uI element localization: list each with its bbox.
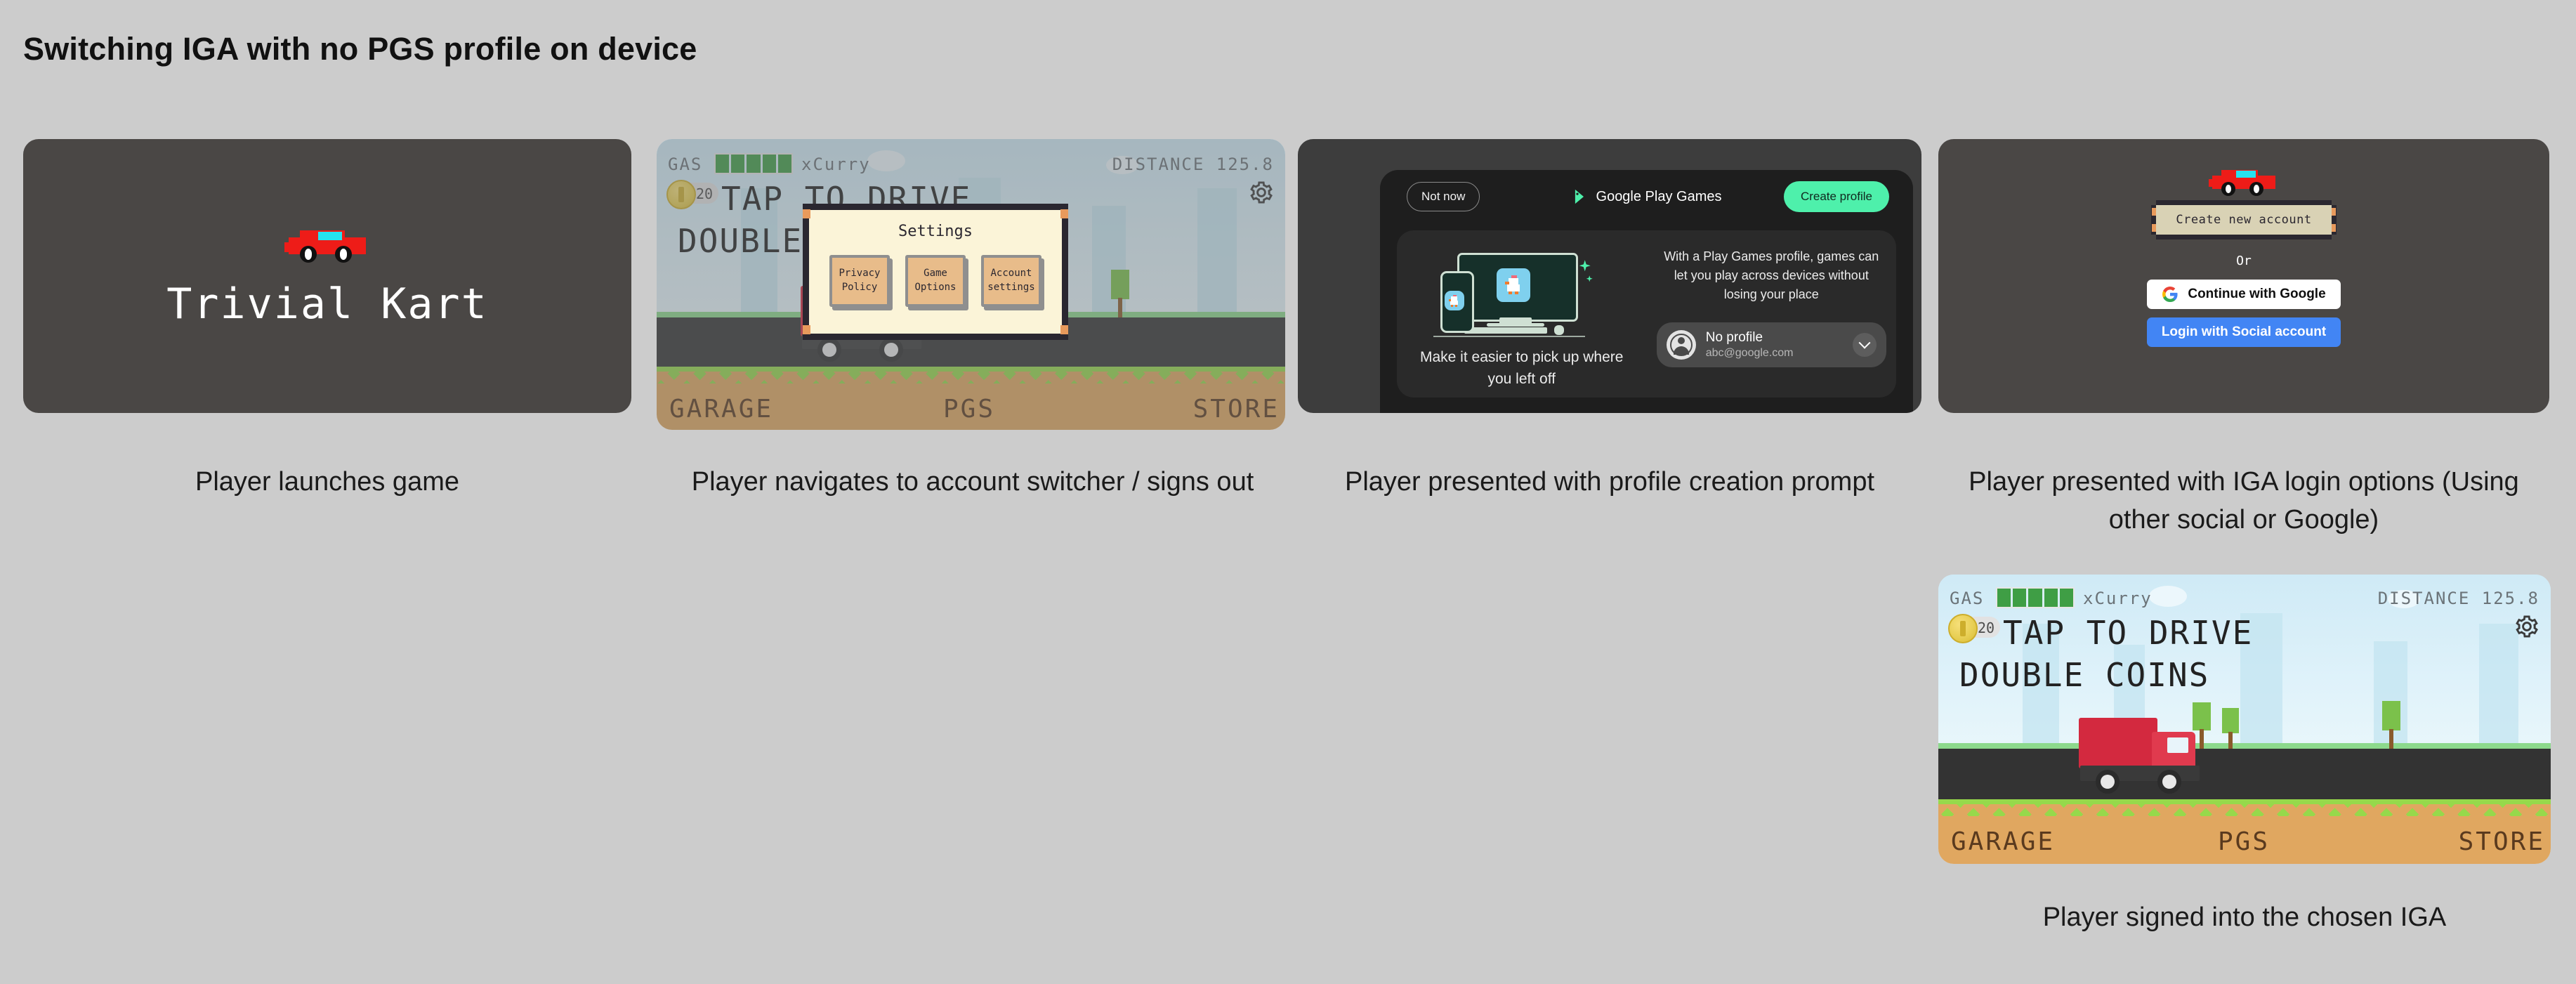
caption-panel-4: Player presented with IGA login options … (1938, 464, 2549, 539)
create-profile-button[interactable]: Create profile (1784, 181, 1889, 212)
sparkle-icon (1586, 275, 1593, 282)
panel-pgs-profile-prompt: Not now Google Play Games Create profile (1298, 139, 1921, 413)
caption-panel-3: Player presented with profile creation p… (1298, 464, 1921, 501)
game-options-line1: Game (924, 267, 947, 281)
google-g-icon (2162, 286, 2179, 303)
privacy-policy-button[interactable]: Privacy Policy (829, 255, 890, 307)
game-options-line2: Options (914, 281, 956, 295)
or-divider-label: Or (2236, 254, 2252, 268)
settings-dialog-title: Settings (809, 223, 1062, 240)
gas-bar (1996, 587, 2075, 608)
pixel-car-icon (284, 223, 370, 264)
caption-panel-1: Player launches game (23, 464, 631, 501)
panel-settings-dialog: GAS xCurry DISTANCE 125.8 20 TAP TO DRIV… (657, 139, 1285, 430)
nav-store[interactable]: STORE (2459, 827, 2545, 856)
hud-car-name: xCurry (2083, 589, 2153, 608)
tree-decoration (2221, 708, 2240, 749)
login-with-social-button[interactable]: Login with Social account (2147, 317, 2341, 347)
panel-iga-login: Create new account Or Continue with Goog… (1938, 139, 2549, 413)
gear-icon[interactable] (2514, 614, 2539, 639)
chevron-down-icon[interactable] (1853, 333, 1877, 357)
caption-panel-5: Player signed into the chosen IGA (1938, 899, 2551, 937)
create-new-account-label: Create new account (2176, 213, 2311, 227)
profile-email: abc@google.com (1706, 347, 1853, 360)
game-title: Trivial Kart (166, 280, 487, 329)
nav-pgs[interactable]: PGS (2218, 827, 2270, 856)
continue-with-google-label: Continue with Google (2188, 287, 2325, 302)
coin-counter: 20 (1952, 617, 2000, 638)
tree-decoration (2381, 701, 2402, 749)
play-games-brand-label: Google Play Games (1596, 189, 1722, 205)
privacy-policy-line2: Policy (842, 281, 878, 295)
caption-panel-2: Player navigates to account switcher / s… (671, 464, 1275, 501)
panel-signed-in-game: GAS xCurry DISTANCE 125.8 20 TAP TO DRIV… (1938, 575, 2551, 864)
headline-tap-to-drive: TAP TO DRIVE (2003, 614, 2253, 652)
nav-garage[interactable]: GARAGE (1951, 827, 2055, 856)
privacy-policy-line1: Privacy (839, 267, 880, 281)
profile-name: No profile (1706, 330, 1853, 346)
play-games-logo-icon (1572, 188, 1590, 206)
account-settings-line2: settings (987, 281, 1034, 295)
continue-with-google-button[interactable]: Continue with Google (2147, 280, 2341, 309)
pixel-car-icon (2209, 164, 2279, 197)
account-settings-line1: Account (990, 267, 1032, 281)
game-options-button[interactable]: Game Options (905, 255, 966, 307)
create-new-account-button[interactable]: Create new account (2156, 205, 2332, 235)
panel-splash-screen: Trivial Kart (23, 139, 631, 413)
illustration-caption: Make it easier to pick up where you left… (1407, 347, 1636, 390)
game-icon-small (1445, 291, 1464, 310)
game-icon-large (1497, 268, 1530, 302)
not-now-button[interactable]: Not now (1407, 182, 1480, 211)
player-truck (2079, 715, 2208, 799)
profile-description: With a Play Games profile, games can let… (1657, 247, 1886, 304)
sparkle-icon (1579, 260, 1591, 271)
profile-selector[interactable]: No profile abc@google.com (1657, 322, 1886, 367)
page-title: Switching IGA with no PGS profile on dev… (23, 31, 697, 67)
hud-distance: DISTANCE 125.8 (2378, 589, 2539, 608)
settings-dialog: Settings Privacy Policy Game Options Acc… (803, 204, 1068, 340)
headline-double-coins: DOUBLE COINS (1959, 656, 2209, 694)
coin-count-value: 20 (1978, 619, 1995, 636)
login-with-social-label: Login with Social account (2162, 324, 2326, 340)
hud-gas-label: GAS (1950, 589, 1984, 608)
account-settings-button[interactable]: Account settings (981, 255, 1041, 307)
cross-device-illustration (1431, 240, 1613, 339)
account-circle-icon (1667, 330, 1696, 360)
